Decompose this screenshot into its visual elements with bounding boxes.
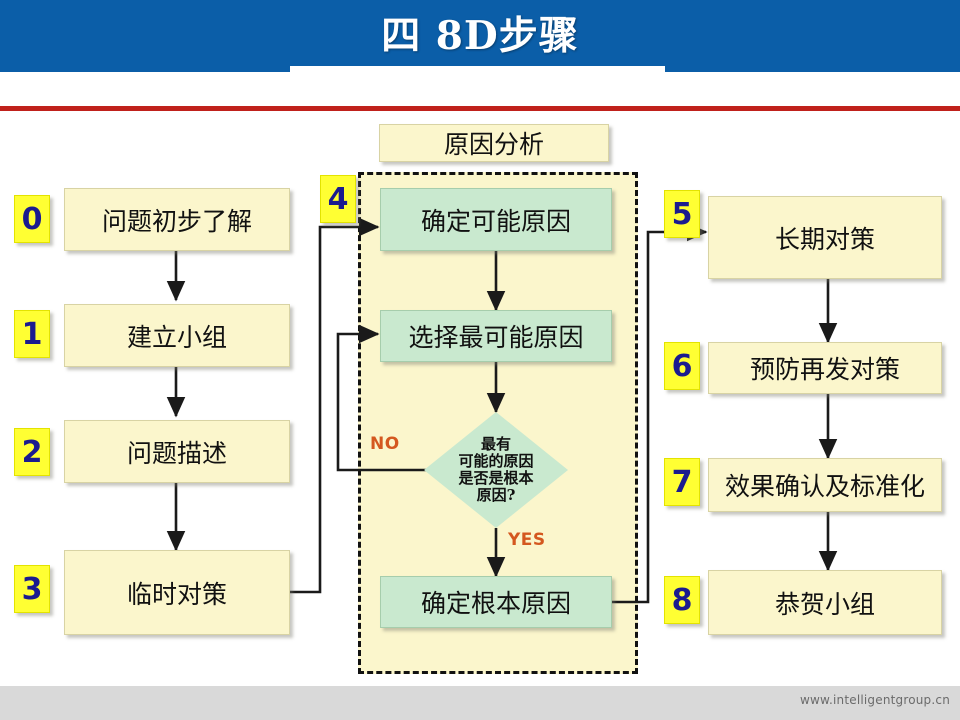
- decision-line-3: 是否是根本: [458, 470, 533, 487]
- footer-watermark: www.intelligentgroup.cn: [700, 693, 950, 713]
- node-form-team[interactable]: 建立小组: [64, 304, 290, 367]
- step-badge-3: 3: [14, 565, 50, 613]
- cause-analysis-caption: 原因分析: [379, 124, 609, 162]
- step-badge-2: 2: [14, 428, 50, 476]
- branch-label-no: NO: [370, 434, 400, 454]
- header-divider-rule: [0, 106, 960, 111]
- node-problem-awareness[interactable]: 问题初步了解: [64, 188, 290, 251]
- node-verify-and-standardize[interactable]: 效果确认及标准化: [708, 458, 942, 512]
- step-badge-4: 4: [320, 175, 356, 223]
- decision-line-4: 原因?: [477, 487, 516, 504]
- node-select-most-likely-cause[interactable]: 选择最可能原因: [380, 310, 612, 362]
- step-badge-5: 5: [664, 190, 700, 238]
- node-determine-root-cause[interactable]: 确定根本原因: [380, 576, 612, 628]
- step-badge-1: 1: [14, 310, 50, 358]
- decision-root-cause[interactable]: 最有 可能的原因 是否是根本 原因?: [424, 412, 568, 528]
- step-badge-6: 6: [664, 342, 700, 390]
- header-notch: [290, 66, 665, 78]
- node-prevent-recurrence[interactable]: 预防再发对策: [708, 342, 942, 394]
- node-permanent-action[interactable]: 长期对策: [708, 196, 942, 279]
- node-problem-description[interactable]: 问题描述: [64, 420, 290, 483]
- node-congratulate-team[interactable]: 恭贺小组: [708, 570, 942, 635]
- branch-label-yes: YES: [508, 530, 546, 550]
- step-badge-0: 0: [14, 195, 50, 243]
- step-badge-8: 8: [664, 576, 700, 624]
- decision-label: 最有 可能的原因 是否是根本 原因?: [424, 412, 568, 528]
- decision-line-1: 最有: [481, 436, 511, 453]
- node-interim-action[interactable]: 临时对策: [64, 550, 290, 635]
- slide-canvas: 四 8D步骤 原因分析: [0, 0, 960, 720]
- page-title: 四 8D步骤: [0, 2, 960, 64]
- step-badge-7: 7: [664, 458, 700, 506]
- decision-line-2: 可能的原因: [458, 453, 533, 470]
- node-identify-possible-causes[interactable]: 确定可能原因: [380, 188, 612, 251]
